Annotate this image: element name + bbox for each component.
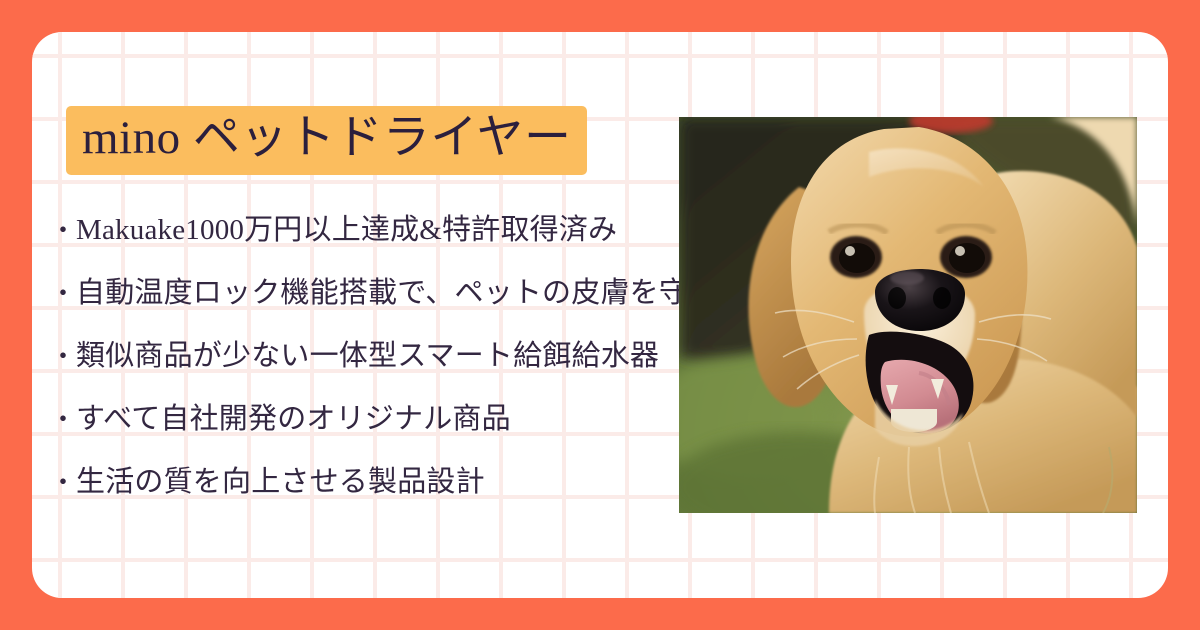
dog-photo <box>679 117 1137 513</box>
list-item-label: すべて自社開発のオリジナル商品 <box>76 403 511 435</box>
bullet-marker: ・ <box>50 218 76 244</box>
list-item-label: 生活の質を向上させる製品設計 <box>76 466 485 498</box>
list-item-label: 類似商品が少ない一体型スマート給餌給水器 <box>76 340 659 372</box>
feature-list: ・Makuake1000万円以上達成&特許取得済み ・自動温度ロック機能搭載で、… <box>50 216 710 531</box>
list-item-label: Makuake1000万円以上達成&特許取得済み <box>76 214 617 246</box>
list-item-label: 自動温度ロック機能搭載で、ペットの皮膚を守る <box>76 277 717 309</box>
bullet-marker: ・ <box>50 470 76 496</box>
bullet-marker: ・ <box>50 281 76 307</box>
list-item: ・すべて自社開発のオリジナル商品 <box>50 405 710 468</box>
list-item: ・自動温度ロック機能搭載で、ペットの皮膚を守る <box>50 279 710 342</box>
page-title: mino ペットドライヤー <box>66 106 587 175</box>
list-item: ・類似商品が少ない一体型スマート給餌給水器 <box>50 342 710 405</box>
bullet-marker: ・ <box>50 344 76 370</box>
banner-root: mino ペットドライヤー ・Makuake1000万円以上達成&特許取得済み … <box>0 0 1200 630</box>
bullet-marker: ・ <box>50 407 76 433</box>
list-item: ・Makuake1000万円以上達成&特許取得済み <box>50 216 710 279</box>
list-item: ・生活の質を向上させる製品設計 <box>50 468 710 531</box>
title-highlight-text: mino ペットドライヤー <box>66 106 587 175</box>
dog-photo-illustration <box>679 117 1137 513</box>
content-card: mino ペットドライヤー ・Makuake1000万円以上達成&特許取得済み … <box>32 32 1168 598</box>
